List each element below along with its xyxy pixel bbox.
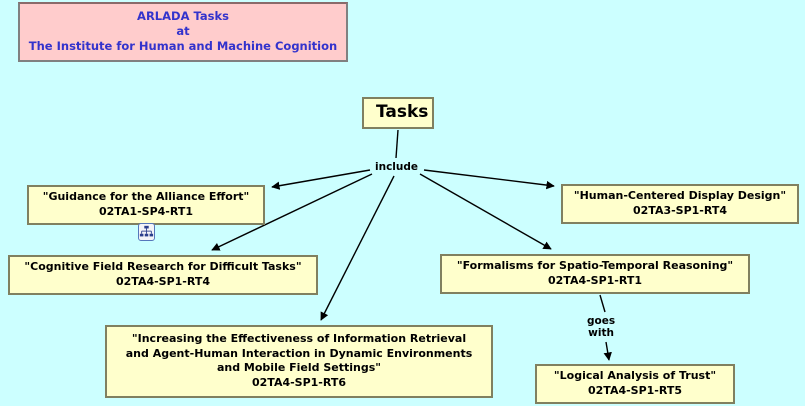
edge-formalisms-to-goeswith (600, 295, 605, 312)
concept-node-increasing-effectiveness-id: 02TA4-SP1-RT6 (114, 376, 484, 391)
edge-include-to-increasing (321, 176, 394, 320)
title-line-2: at (24, 24, 342, 39)
concept-node-cognitive-field-research-id: 02TA4-SP1-RT4 (17, 275, 309, 290)
concept-node-increasing-effectiveness-line-3: and Mobile Field Settings" (114, 361, 484, 376)
concept-node-tasks[interactable]: Tasks (362, 97, 434, 129)
edge-include-to-formalisms (420, 174, 551, 249)
concept-node-formalisms[interactable]: "Formalisms for Spatio-Temporal Reasonin… (440, 254, 750, 294)
concept-map-resource-icon[interactable] (138, 223, 155, 241)
concept-node-guidance-id: 02TA1-SP4-RT1 (36, 205, 256, 220)
concept-map-canvas[interactable]: ARLADA Tasks at The Institute for Human … (0, 0, 805, 406)
concept-node-increasing-effectiveness-line-1: "Increasing the Effectiveness of Informa… (114, 332, 484, 347)
concept-node-formalisms-id: 02TA4-SP1-RT1 (449, 274, 741, 289)
link-label-goes-with[interactable]: goes with (585, 315, 617, 339)
concept-node-increasing-effectiveness-line-2: and Agent-Human Interaction in Dynamic E… (114, 347, 484, 362)
title-banner: ARLADA Tasks at The Institute for Human … (18, 2, 348, 62)
concept-node-logical-analysis-of-trust[interactable]: "Logical Analysis of Trust" 02TA4-SP1-RT… (535, 364, 735, 404)
concept-node-logical-analysis-of-trust-title: "Logical Analysis of Trust" (544, 369, 726, 384)
link-label-goes-with-line-1: goes (587, 315, 615, 327)
edge-include-to-display (424, 170, 554, 186)
concept-node-increasing-effectiveness[interactable]: "Increasing the Effectiveness of Informa… (105, 325, 493, 398)
concept-node-display-design[interactable]: "Human-Centered Display Design" 02TA3-SP… (561, 184, 799, 224)
concept-node-display-design-title: "Human-Centered Display Design" (570, 189, 790, 204)
concept-node-tasks-label: Tasks (376, 101, 420, 123)
link-label-include[interactable]: include (373, 161, 420, 173)
concept-node-cognitive-field-research-title: "Cognitive Field Research for Difficult … (17, 260, 309, 275)
concept-node-cognitive-field-research[interactable]: "Cognitive Field Research for Difficult … (8, 255, 318, 295)
concept-node-guidance[interactable]: "Guidance for the Alliance Effort" 02TA1… (27, 185, 265, 225)
edge-include-to-guidance (272, 170, 370, 187)
title-line-1: ARLADA Tasks (24, 9, 342, 24)
concept-node-formalisms-title: "Formalisms for Spatio-Temporal Reasonin… (449, 259, 741, 274)
concept-node-logical-analysis-of-trust-id: 02TA4-SP1-RT5 (544, 384, 726, 399)
edge-root-to-include (396, 130, 398, 158)
concept-node-display-design-id: 02TA3-SP1-RT4 (570, 204, 790, 219)
title-line-3: The Institute for Human and Machine Cogn… (24, 39, 342, 54)
link-label-goes-with-line-2: with (587, 327, 615, 339)
edge-goeswith-to-trust (606, 342, 609, 360)
concept-node-guidance-title: "Guidance for the Alliance Effort" (36, 190, 256, 205)
